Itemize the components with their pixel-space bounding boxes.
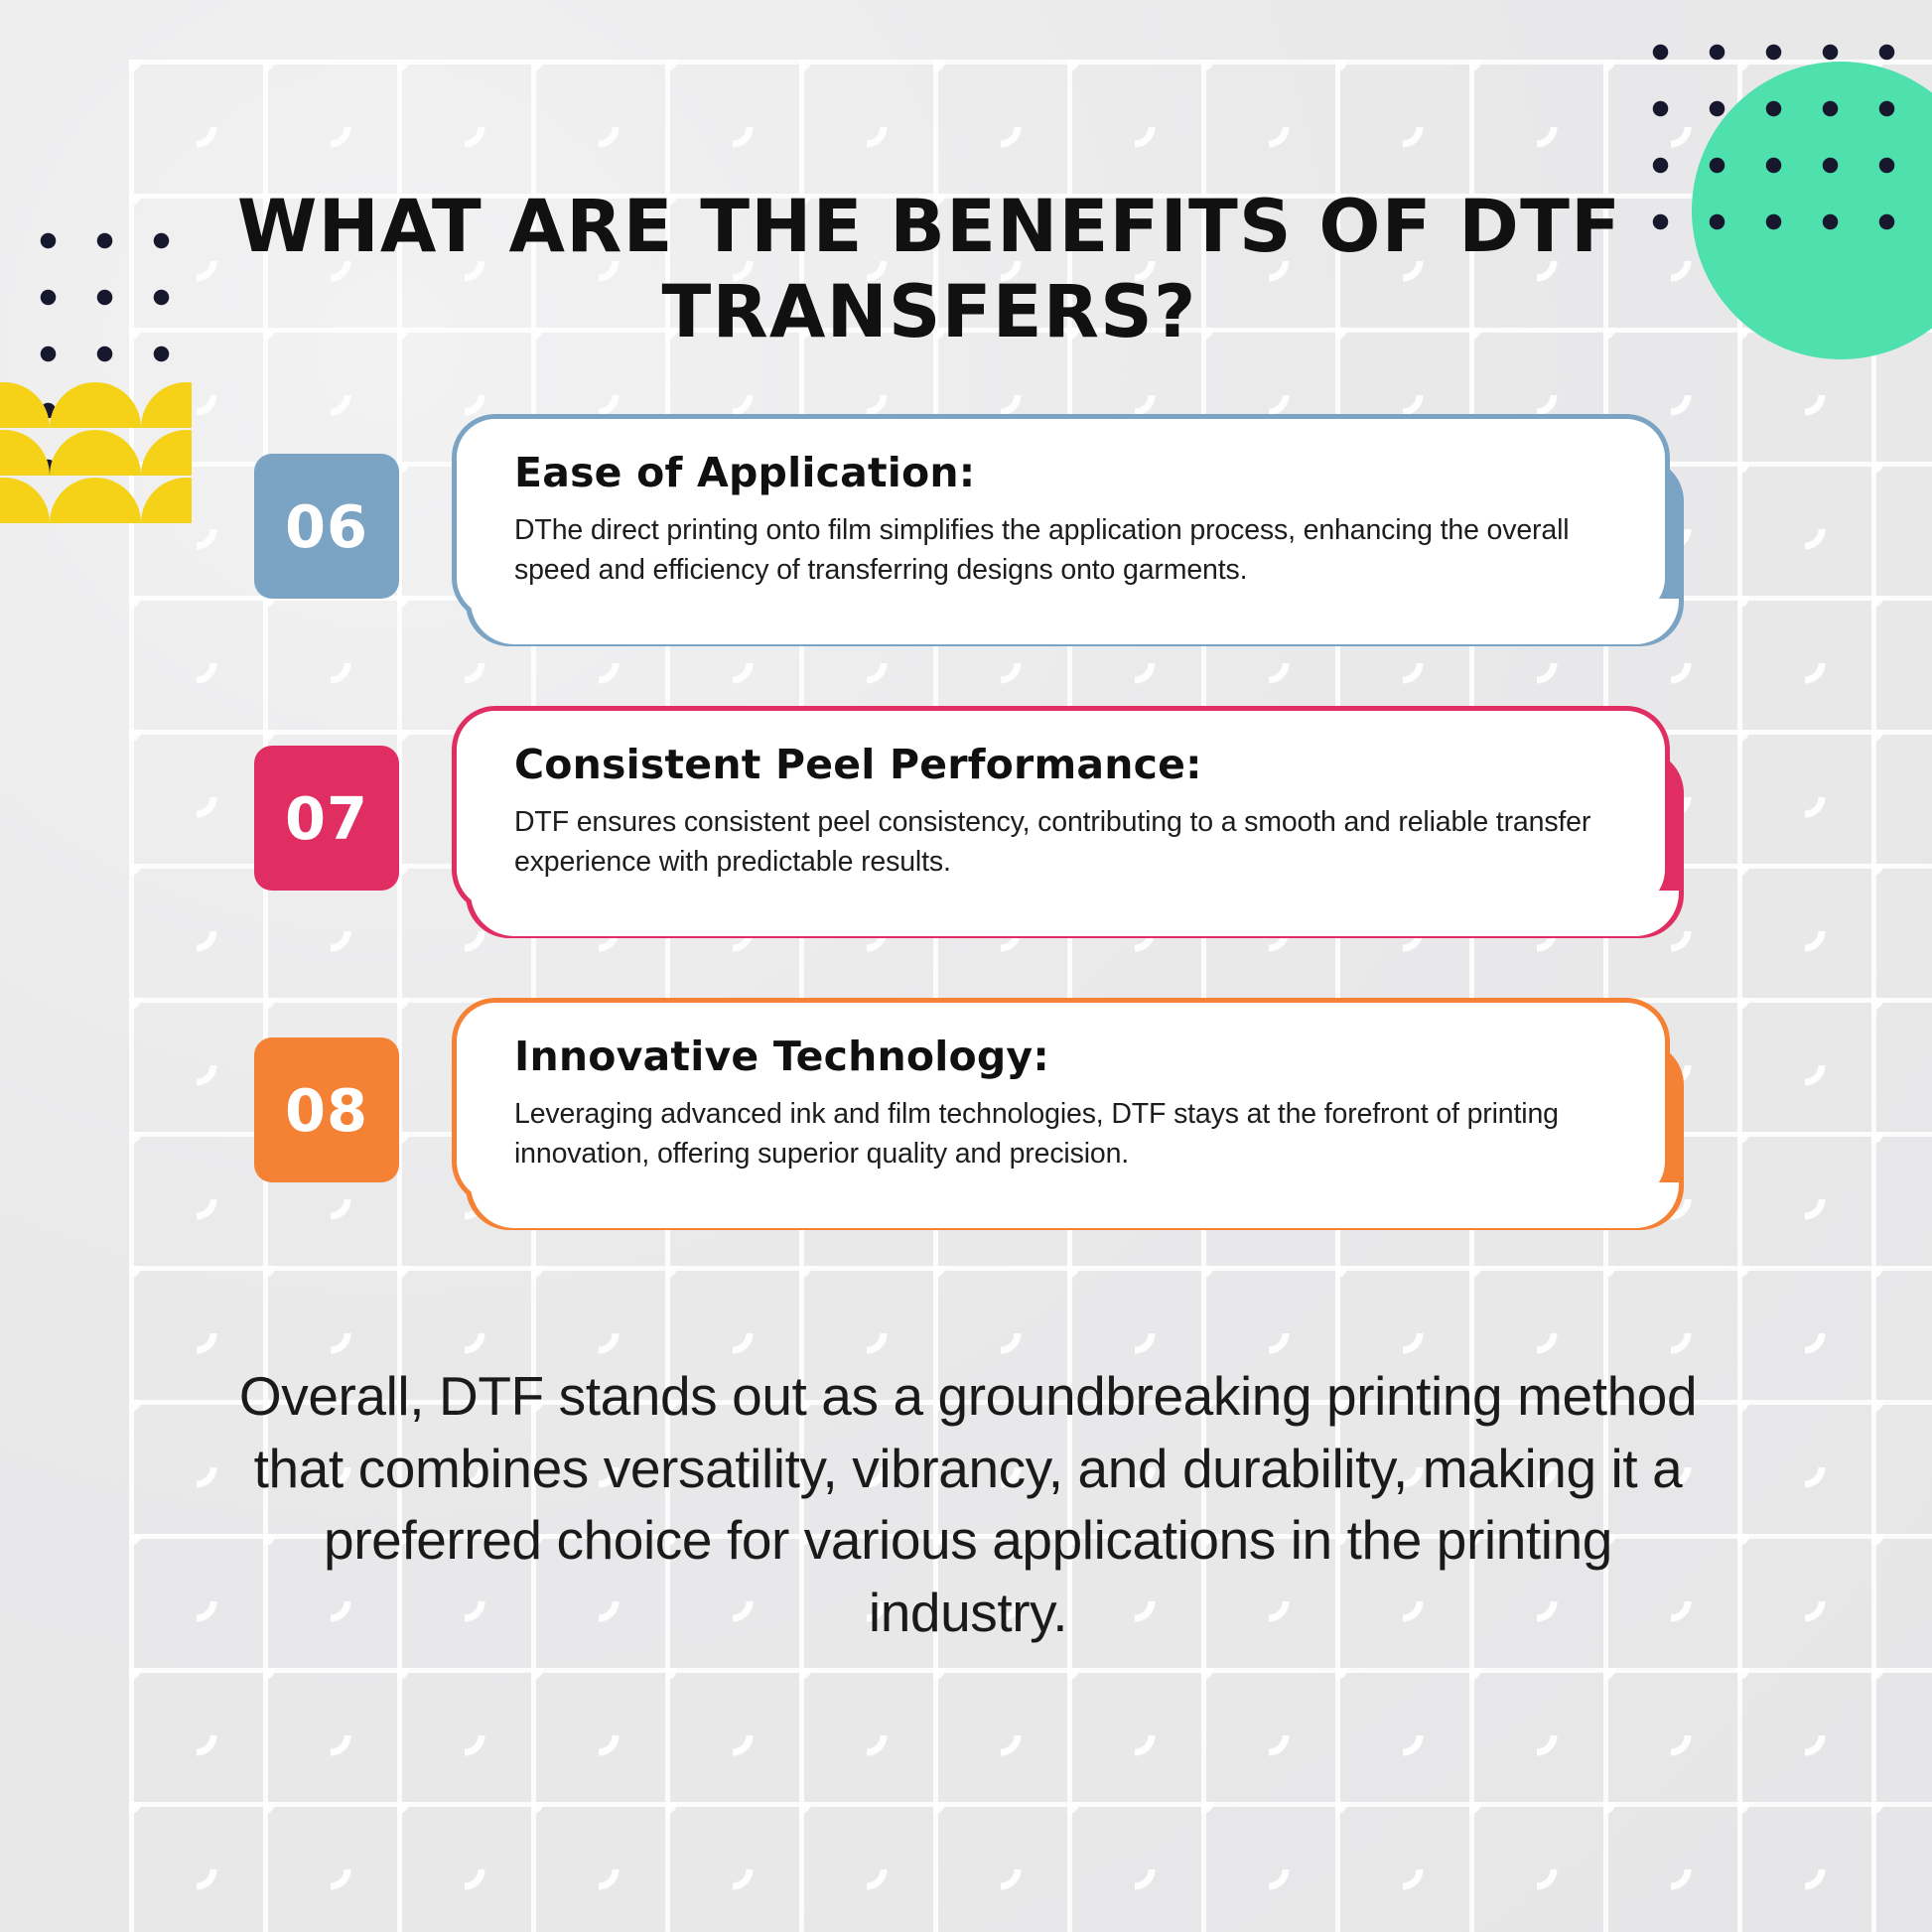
card-number-label: 08 bbox=[285, 1076, 368, 1145]
benefits-card-list: 06 Ease of Application: DThe direct prin… bbox=[0, 452, 1932, 1327]
card-number-badge: 08 bbox=[254, 1037, 399, 1182]
benefit-card-row: 06 Ease of Application: DThe direct prin… bbox=[0, 452, 1932, 650]
semicircle-shape bbox=[0, 382, 50, 428]
card-body-text: DThe direct printing onto film simplifie… bbox=[514, 510, 1619, 591]
benefit-card[interactable]: Innovative Technology: Leveraging advanc… bbox=[452, 998, 1670, 1205]
benefit-card[interactable]: Ease of Application: DThe direct printin… bbox=[452, 414, 1670, 621]
infographic-canvas: WHAT ARE THE BENEFITS OF DTF TRANSFERS? … bbox=[0, 0, 1932, 1932]
card-number-label: 06 bbox=[285, 492, 368, 561]
card-title: Innovative Technology: bbox=[514, 1033, 1619, 1080]
benefit-card[interactable]: Consistent Peel Performance: DTF ensures… bbox=[452, 706, 1670, 913]
dot-grid-top-right bbox=[1626, 18, 1914, 246]
semicircle-shape bbox=[141, 382, 192, 428]
card-number-badge: 07 bbox=[254, 746, 399, 891]
summary-paragraph: Overall, DTF stands out as a groundbreak… bbox=[238, 1360, 1698, 1648]
benefit-card-row: 07 Consistent Peel Performance: DTF ensu… bbox=[0, 744, 1932, 942]
card-number-label: 07 bbox=[285, 784, 368, 853]
card-body-text: DTF ensures consistent peel consistency,… bbox=[514, 802, 1619, 883]
card-title: Ease of Application: bbox=[514, 449, 1619, 496]
card-title: Consistent Peel Performance: bbox=[514, 741, 1619, 788]
page-title: WHAT ARE THE BENEFITS OF DTF TRANSFERS? bbox=[205, 185, 1654, 355]
benefit-card-row: 08 Innovative Technology: Leveraging adv… bbox=[0, 1035, 1932, 1234]
card-number-badge: 06 bbox=[254, 454, 399, 599]
semicircle-shape bbox=[50, 382, 141, 428]
card-body-text: Leveraging advanced ink and film technol… bbox=[514, 1094, 1619, 1174]
